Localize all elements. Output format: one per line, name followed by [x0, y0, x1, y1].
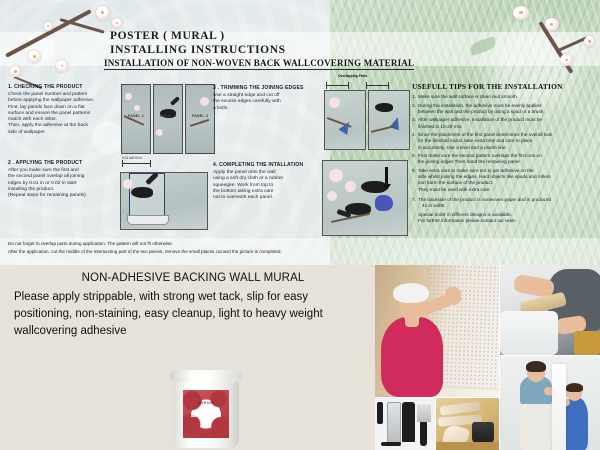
bucket-label-text: ADHESIVE — [183, 401, 229, 405]
measure-tick — [150, 160, 151, 167]
photo-wallpaper-rolls — [436, 398, 499, 450]
bucket-label-bar — [191, 412, 221, 417]
promo-body-line: positioning, non-staining, easy cleanup,… — [14, 306, 372, 323]
tips-item-line: can harm the surface of the product. — [418, 180, 493, 185]
tips-item-number: 3. — [412, 117, 416, 123]
tips-item-line: Since the placement of the first panel d… — [418, 132, 552, 137]
tips-item: 6. Take extra care to make sure not to g… — [412, 168, 592, 193]
knife-icon — [389, 116, 402, 131]
tips-item-line: During the installation, the adhesive mu… — [418, 103, 542, 108]
blossom-icon — [112, 18, 122, 28]
paste-tray — [127, 215, 169, 225]
photo-woman-applying-wallpaper — [375, 265, 499, 397]
diagram-frame-applying — [120, 172, 208, 230]
squeegee-tool-icon — [402, 402, 415, 442]
panel-label: PANEL 2 — [160, 114, 176, 118]
woman-shirt — [381, 317, 443, 397]
tool-belt — [574, 331, 600, 355]
footer-notes: Do not forget to overlap parts during ap… — [8, 240, 428, 255]
bucket-lid — [170, 370, 242, 382]
tips-item-line: They must be used with extra care. — [418, 187, 491, 192]
adhesive-bucket-image: ADHESIVE — [170, 368, 242, 448]
wallpaper-roll — [440, 401, 481, 415]
panel-2: PANEL 2 — [153, 84, 183, 154]
promo-block: NON-ADHESIVE BACKING WALL MURAL Please a… — [14, 272, 372, 340]
man-hair — [526, 361, 546, 372]
tips-item-line: First make sure the second pattern overl… — [418, 153, 542, 158]
tips-item-number: 2. — [412, 103, 416, 109]
tips-item: 3. After wallpaper adhesive, installatio… — [412, 117, 592, 129]
photo-tools — [375, 398, 435, 450]
tips-item-number: 6. — [412, 168, 416, 174]
section-body-line: not to overwork each panel. — [213, 195, 325, 201]
woman-neck — [405, 315, 419, 327]
diagram-trimming — [324, 90, 410, 150]
diagram-completing — [322, 160, 408, 236]
tips-item-number: 7. — [412, 197, 416, 203]
tips-closing-line: For further information please contact o… — [418, 218, 592, 224]
footer-note-line: After the application, cut the middle of… — [8, 248, 428, 256]
scraper-blade-icon — [417, 404, 431, 422]
tips-item-line: side whilst joining the edges. Hard obje… — [418, 174, 551, 179]
overlap-label: Overlapping Parts — [338, 74, 367, 78]
tips-item-number: 1. — [412, 94, 416, 100]
tips-item-number: 4. — [412, 132, 416, 138]
page-title-line2: INSTALLING INSTRUCTIONS — [110, 43, 286, 57]
tips-item-line: in accurately. Use a level and a plumb l… — [418, 145, 507, 150]
panel-label: PANEL 1 — [128, 114, 144, 118]
poster-page: POSTER ( MURAL ) INSTALLING INSTRUCTIONS… — [0, 0, 600, 450]
blossom-icon — [44, 22, 53, 31]
section-body-line: a knife. — [213, 106, 323, 112]
knife-tool-icon — [381, 442, 401, 446]
blossom-motif — [123, 179, 133, 189]
tips-item: 4. Since the placement of the first pane… — [412, 132, 592, 151]
page-subtitle: INSTALLATION OF NON-WOVEN BACK WALLCOVER… — [104, 58, 414, 70]
tips-item-number: 5. — [412, 153, 416, 159]
diagram-frame-completing — [322, 160, 408, 236]
bird-motif — [131, 187, 153, 198]
section-heading: 3 . TRIMMING THE JOINING EDGES — [213, 85, 323, 91]
section-checking-the-product: 1. CHECKING THE PRODUCT Check the panel … — [8, 84, 116, 136]
section-body: Apply the panel onto the wall using a so… — [213, 170, 325, 201]
tips-item-line: Take extra care to make sure not to get … — [418, 168, 534, 173]
arrow-down-icon — [385, 167, 388, 185]
section-body-line: side of wallpaper. — [8, 130, 116, 136]
scraper-handle — [420, 420, 427, 446]
tips-item-line: between the wall and the product by usin… — [418, 109, 545, 114]
footer-note-line: Do not forget to overlap parts during ap… — [8, 240, 428, 248]
diagram-applying — [120, 172, 208, 230]
tips-item-line: for the finished mural, take extra time … — [418, 138, 532, 143]
blossom-icon — [545, 18, 559, 31]
promo-heading: NON-ADHESIVE BACKING WALL MURAL — [14, 272, 372, 284]
section-trimming-the-joining-edges: 3 . TRIMMING THE JOINING EDGES Use a str… — [213, 85, 323, 112]
tips-item-line: After wallpaper adhesive, installation o… — [418, 117, 542, 122]
tips-item: 7. The backside of the product is nonwov… — [412, 197, 592, 209]
tips-item: 5. First make sure the second pattern ov… — [412, 153, 592, 165]
tips-panel: USEFULL TIPS FOR THE INSTALLATION 1. Mak… — [412, 82, 592, 224]
panel-set: PANEL 1 PANEL 2 PANEL 3 — [121, 84, 215, 154]
measure-line — [122, 163, 150, 164]
blossom-icon — [28, 50, 41, 63]
photo-man-and-child — [500, 356, 600, 450]
child-hair — [566, 383, 583, 392]
tool-handle — [377, 402, 383, 424]
tips-item: 2. During the installation, the adhesive… — [412, 103, 592, 115]
woman-cap — [393, 283, 429, 303]
section-heading: 2 . APPLYING THE PRODUCT — [8, 160, 116, 166]
blossom-icon — [584, 36, 595, 47]
tips-item-line: Make sure the wall surface is clean and … — [418, 94, 518, 99]
table-surface — [436, 442, 499, 450]
section-body: After you make sure the first and the se… — [8, 168, 116, 199]
tips-list: 1. Make sure the wall surface is clean a… — [412, 94, 592, 209]
promo-body-line: wallcovering adhesive — [14, 323, 372, 340]
tips-closing: Special order in different designs is av… — [412, 212, 592, 224]
promo-body: Please apply strippable, with strong wet… — [14, 289, 372, 340]
glove-icon — [375, 195, 393, 211]
blossom-icon — [56, 60, 68, 72]
tips-item-line: 41 in width. — [422, 203, 446, 208]
diagram-frame-trim-left — [324, 90, 366, 150]
wallpaper-panel — [552, 364, 566, 450]
panel-1: PANEL 1 — [121, 84, 151, 154]
section-body: Check the panel number and pattern befor… — [8, 92, 116, 136]
tips-item-line: the joining edges Then hand the remainin… — [418, 159, 521, 164]
photo-collage — [375, 265, 600, 450]
paste-pot — [472, 422, 494, 444]
section-body: Use a straight edge and cut off the exce… — [213, 93, 323, 112]
tips-heading: USEFULL TIPS FOR THE INSTALLATION — [412, 82, 592, 91]
section-heading: 1. CHECKING THE PRODUCT — [8, 84, 116, 90]
page-title: POSTER ( MURAL ) INSTALLING INSTRUCTIONS — [110, 29, 286, 57]
tips-item-line: The backside of the product is nonwoven … — [418, 197, 551, 202]
bucket-label: ADHESIVE — [183, 390, 229, 438]
blossom-icon — [513, 6, 529, 20]
page-title-line1: POSTER ( MURAL ) — [110, 29, 286, 43]
blossom-icon — [560, 54, 573, 66]
panel-3: PANEL 3 — [185, 84, 215, 154]
blossom-icon — [96, 6, 110, 20]
diagram-frame-trim-right — [368, 90, 410, 150]
section-applying-the-product: 2 . APPLYING THE PRODUCT After you make … — [8, 160, 116, 199]
man-trousers — [520, 404, 552, 450]
smoother-tool-icon — [387, 402, 401, 444]
section-completing-the-installation: 4. COMPLETING THE INTALLATION Apply the … — [213, 162, 325, 201]
measure-tick — [122, 160, 123, 167]
blossom-icon — [10, 66, 21, 77]
photo-roller-application — [500, 265, 600, 355]
measure-label: 0.01 in/0.02 in — [122, 156, 142, 160]
section-heading: 4. COMPLETING THE INTALLATION — [213, 162, 325, 168]
wall-surface — [500, 311, 558, 355]
promo-body-line: Please apply strippable, with strong wet… — [14, 289, 372, 306]
woman-hand — [445, 287, 461, 305]
section-body-line: (Repeat steps for remaining panels) — [8, 193, 116, 199]
tips-item-line: finished in 10-20 min. — [418, 124, 463, 129]
panel-label: PANEL 3 — [192, 114, 208, 118]
diagram-panels: PANEL 1 PANEL 2 PANEL 3 — [121, 84, 215, 154]
tips-item: 1. Make sure the wall surface is clean a… — [412, 94, 592, 100]
